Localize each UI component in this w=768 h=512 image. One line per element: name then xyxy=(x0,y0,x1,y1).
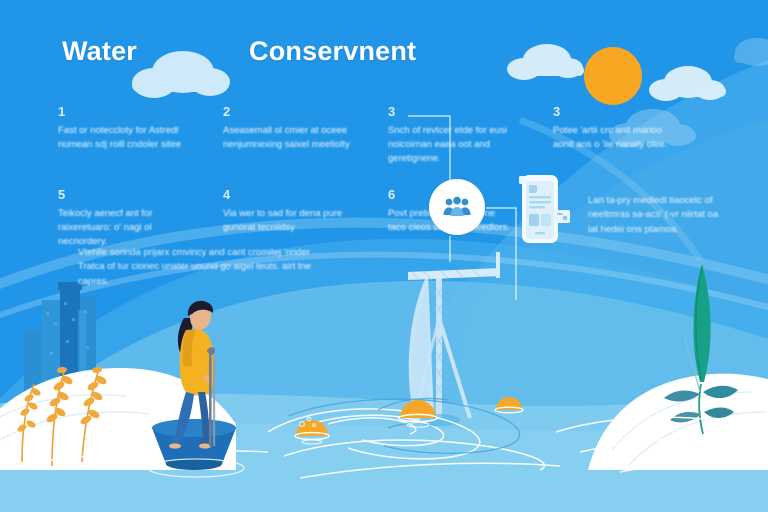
item-number: 1 xyxy=(58,104,185,119)
item-body: Teikocly aenecf ant for raixeretuaro: o'… xyxy=(58,207,185,248)
side-note: Lan ta-pry medledl tiaocetc of neeltmras… xyxy=(588,194,720,237)
page-title: Water Conservnent xyxy=(62,36,416,67)
group-of-people-icon xyxy=(442,196,472,218)
item-body: Snch of revtcer etde for eusi noicoirnan… xyxy=(388,124,515,165)
summary-paragraph: Vtehlle sorinda prijarx cmvincy and cant… xyxy=(78,246,328,289)
title-word-1: Water xyxy=(62,36,137,67)
item-body: Aseasemall ol cmier at oceee nenjumnexin… xyxy=(223,124,350,152)
list-item[interactable]: 3 Potee 'artii crc anil marioo aonit ans… xyxy=(553,104,680,165)
phone-mockup[interactable] xyxy=(513,170,575,253)
item-number: 3 xyxy=(553,104,680,119)
people-badge[interactable] xyxy=(429,179,485,235)
item-number: 3 xyxy=(388,104,515,119)
title-word-2: Conservnent xyxy=(249,36,416,67)
item-body: Potee 'artii crc anil marioo aonit ans o… xyxy=(553,124,680,152)
list-item[interactable]: 2 Aseasemall ol cmier at oceee nenjumnex… xyxy=(223,104,350,165)
item-body: Fast or noteccloty for Astredl numean sd… xyxy=(58,124,185,152)
list-item[interactable]: 3 Snch of revtcer etde for eusi noicoirn… xyxy=(388,104,515,165)
item-body: Via wer to sad for dena pure gunorat tec… xyxy=(223,207,350,235)
item-number: 5 xyxy=(58,187,185,202)
item-number: 4 xyxy=(223,187,350,202)
title-spacer xyxy=(137,51,249,52)
list-item[interactable]: 1 Fast or noteccloty for Astredl numean … xyxy=(58,104,185,165)
item-number: 2 xyxy=(223,104,350,119)
items-row-1: 1 Fast or noteccloty for Astredl numean … xyxy=(58,104,718,165)
list-item[interactable]: 5 Teikocly aenecf ant for raixeretuaro: … xyxy=(58,187,185,248)
poster-canvas: Water Conservnent 1 Fast or noteccloty f… xyxy=(0,0,768,512)
list-item[interactable]: 4 Via wer to sad for dena pure gunorat t… xyxy=(223,187,350,248)
